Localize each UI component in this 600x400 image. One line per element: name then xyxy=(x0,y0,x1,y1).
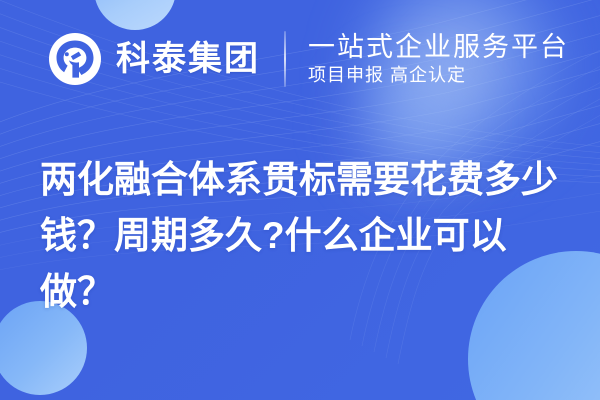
slogan-sub: 项目申报 高企认定 xyxy=(308,66,569,85)
brand-lockup: 科泰集团 xyxy=(48,32,260,86)
page-title: 两化融合体系贯标需要花费多少钱？周期多久?什么企业可以做？ xyxy=(40,152,564,320)
promo-banner: 科泰集团 一站式企业服务平台 项目申报 高企认定 两化融合体系贯标需要花费多少钱… xyxy=(0,0,600,400)
brand-name: 科泰集团 xyxy=(116,42,260,76)
title-block: 两化融合体系贯标需要花费多少钱？周期多久?什么企业可以做？ xyxy=(40,152,564,320)
slogan-block: 一站式企业服务平台 项目申报 高企认定 xyxy=(308,33,569,84)
ketai-group-logo-icon xyxy=(48,32,102,86)
banner-header: 科泰集团 一站式企业服务平台 项目申报 高企认定 xyxy=(0,0,600,118)
header-divider xyxy=(284,31,286,87)
slogan-main: 一站式企业服务平台 xyxy=(308,33,569,61)
